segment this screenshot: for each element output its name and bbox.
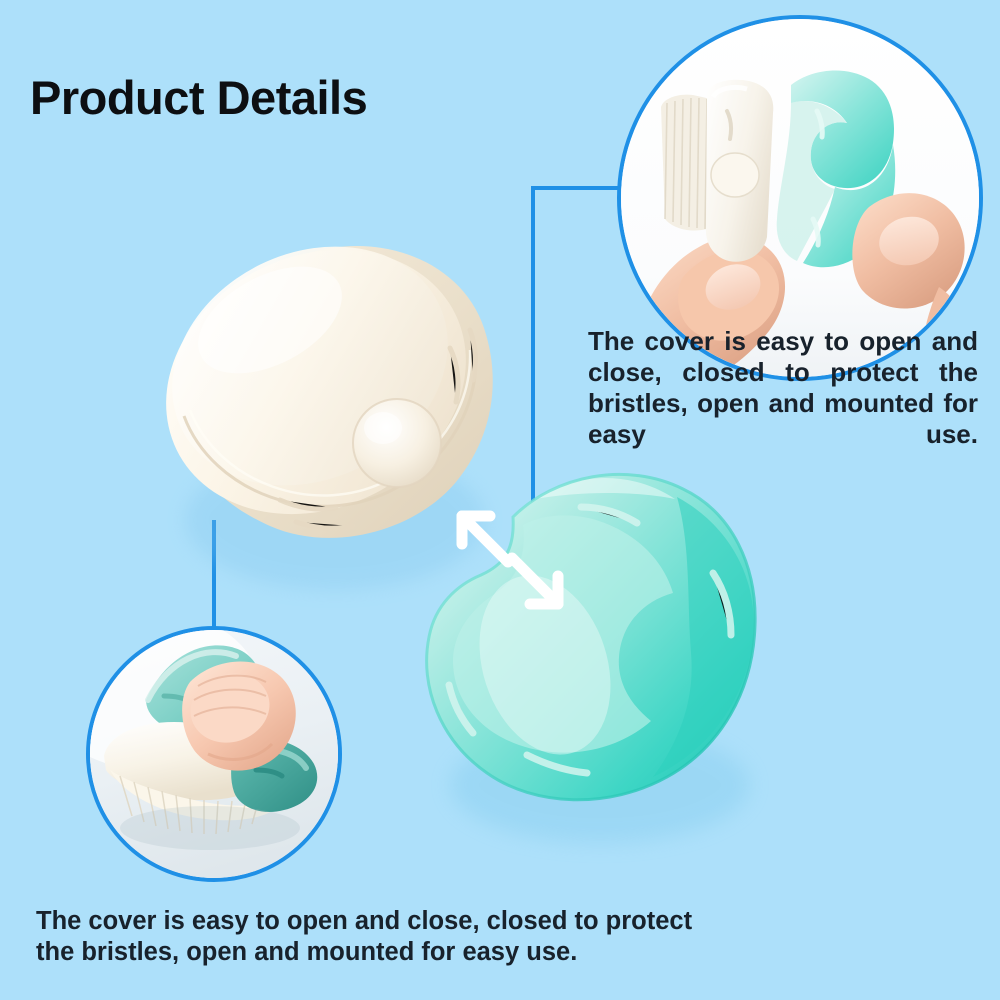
- page-title: Product Details: [30, 72, 367, 124]
- caption-bottom: The cover is easy to open and close, clo…: [36, 906, 736, 968]
- inset-thumb-removing-cover: [86, 626, 342, 882]
- caption-top-right: The cover is easy to open and close, clo…: [588, 326, 978, 481]
- inset-photo-bottom-left: [90, 630, 338, 878]
- inset-photo-top-right: [621, 19, 979, 377]
- swap-arrows-icon: [446, 500, 574, 622]
- product-details-page: Product Details: [0, 0, 1000, 1000]
